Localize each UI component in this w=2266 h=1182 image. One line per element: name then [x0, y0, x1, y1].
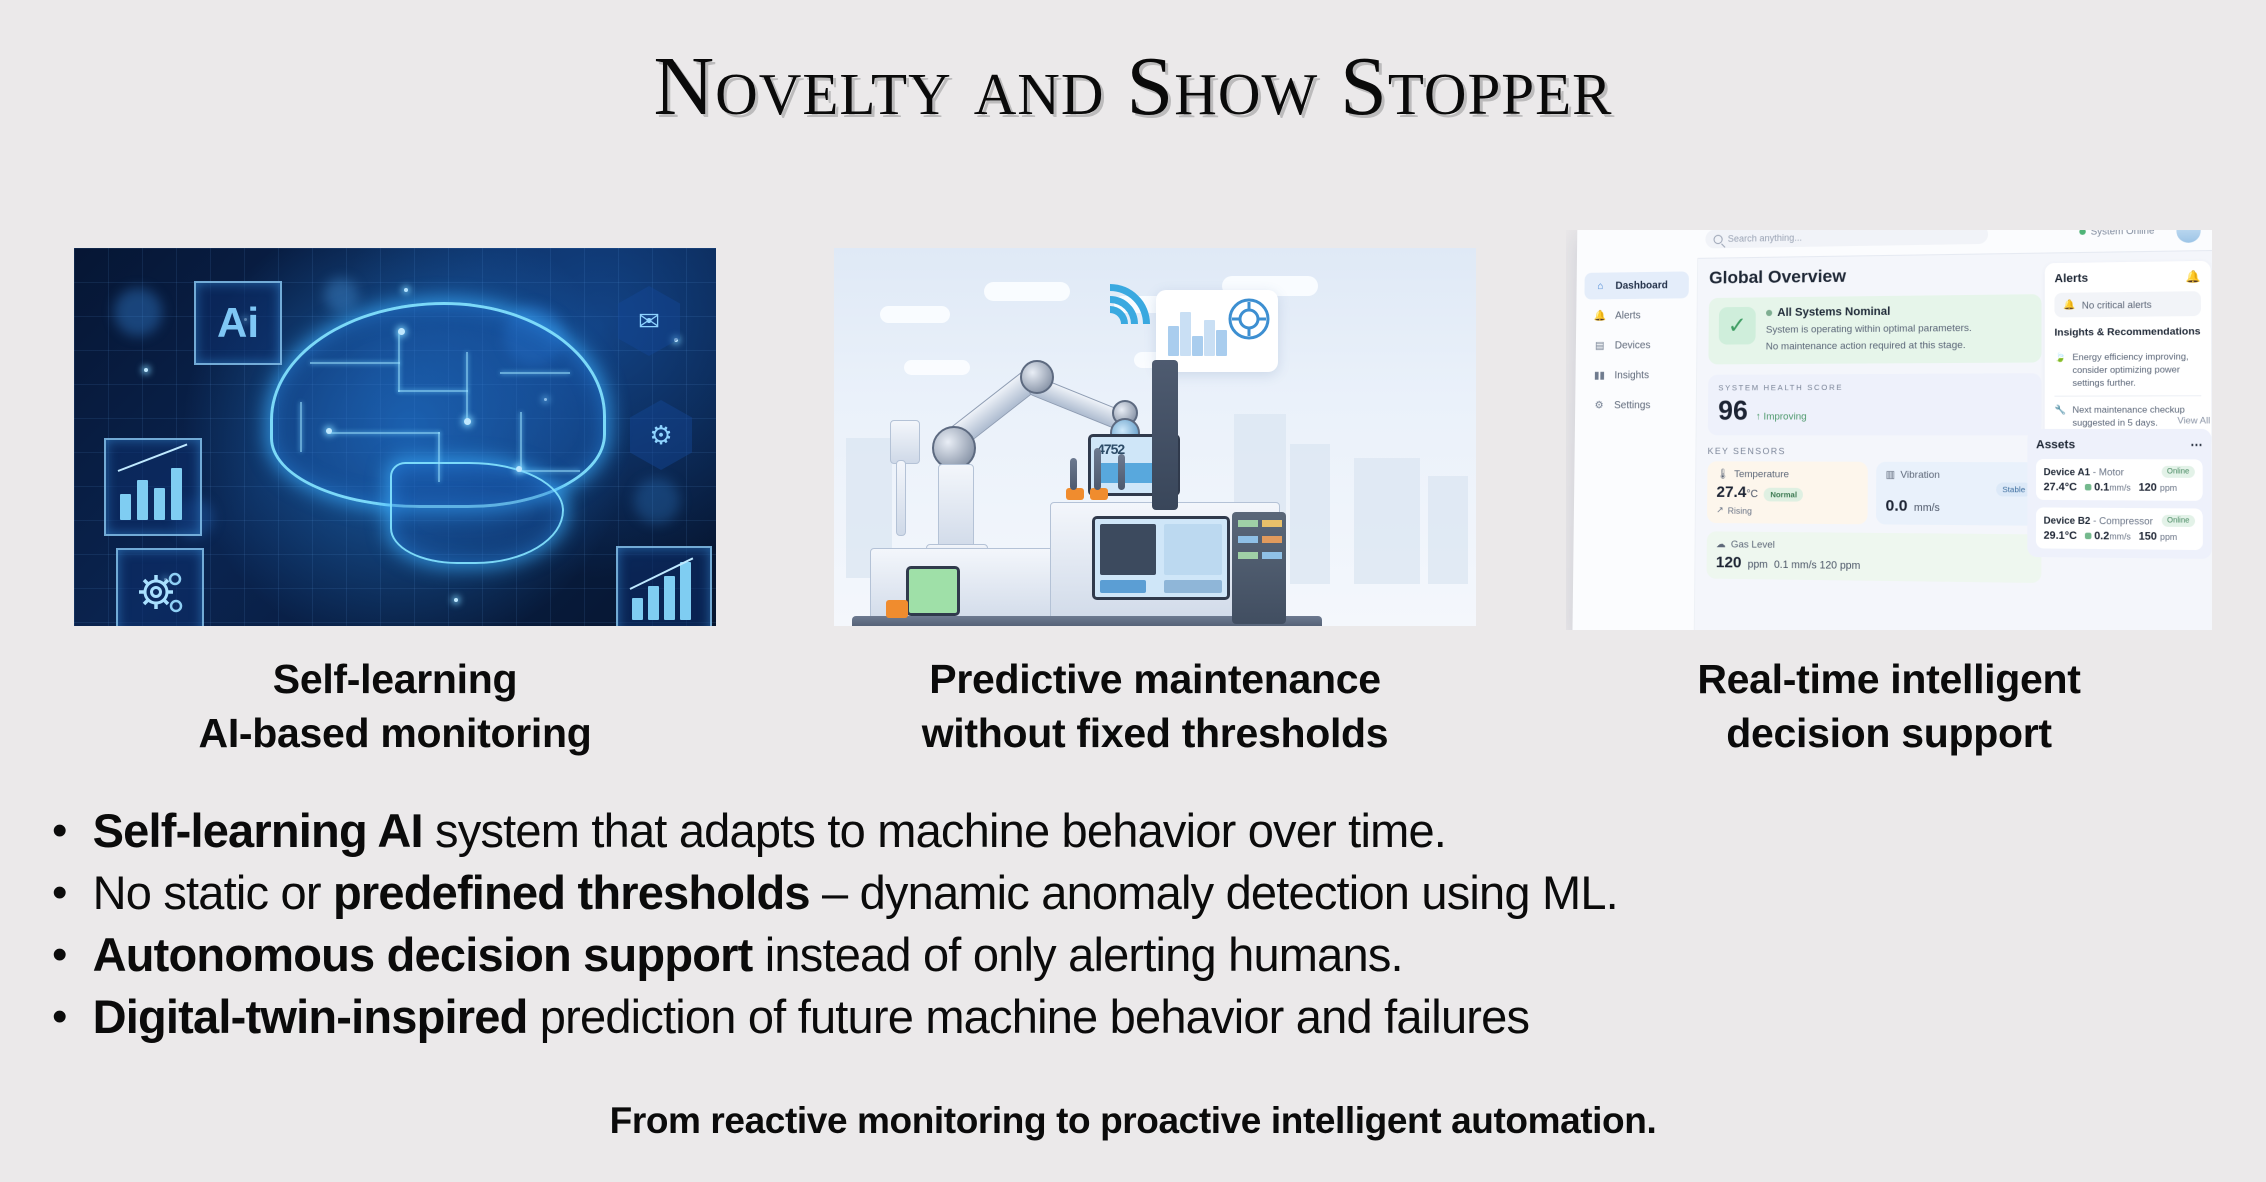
dashboard-right-panel: Alerts 🔔 🔔 No critical alerts Insights &… — [2035, 250, 2212, 630]
nominal-title: All Systems Nominal — [1777, 305, 1890, 319]
analytics-chart-icon — [616, 546, 712, 626]
bell-icon: 🔔 — [2063, 299, 2075, 311]
sensor-unit: ppm — [1748, 559, 1768, 571]
asset-status-badge: Online — [2161, 515, 2195, 527]
list-item: • No static or predefined thresholds – d… — [52, 862, 2232, 924]
bullet-marker: • — [52, 800, 67, 862]
caption-predictive-maintenance: Predictive maintenance without fixed thr… — [834, 652, 1476, 760]
spark — [404, 288, 408, 292]
search-input[interactable]: Search anything... — [1705, 230, 1988, 248]
asset-temp: 27.4°C — [2044, 482, 2077, 494]
cnc-panel — [1092, 516, 1230, 600]
alerts-empty-label: No critical alerts — [2082, 299, 2152, 310]
closing-line: From reactive monitoring to proactive in… — [0, 1100, 2266, 1142]
status-card-nominal: ✓ All Systems Nominal System is operatin… — [1708, 294, 2041, 364]
sidebar-item-label: Settings — [1614, 399, 1650, 410]
bullet-rest: – dynamic anomaly detection using ML. — [810, 866, 1618, 919]
sidebar-item-dashboard[interactable]: ⌂ Dashboard — [1584, 271, 1689, 299]
check-icon: ✓ — [1719, 307, 1756, 345]
bullet-rest: prediction of future machine behavior an… — [528, 990, 1530, 1043]
nominal-line-2: No maintenance action required at this s… — [1766, 338, 1972, 353]
sidebar-item-insights[interactable]: ▮▮ Insights — [1583, 361, 1688, 388]
alerts-title: Alerts — [2054, 272, 2088, 285]
emergency-button — [886, 600, 908, 618]
caption-line-2: decision support — [1566, 706, 2212, 760]
sensor-card-gas: ☁ Gas Level 120ppm 0.1 mm/s 120 ppm — [1707, 531, 2042, 583]
caption-decision-support: Real-time intelligent decision support — [1566, 652, 2212, 760]
list-item: • Self-learning AI system that adapts to… — [52, 800, 2232, 862]
sensor-unit: mm/s — [1914, 502, 1940, 514]
insight-text: Energy efficiency improving, consider op… — [2072, 350, 2201, 390]
sensor-sub: 0.1 mm/s 120 ppm — [1774, 559, 1860, 572]
realtime-dashboard-screenshot: Search anything... System Online ⌂ Dashb… — [1566, 230, 2212, 630]
asset-kind: - Compressor — [2093, 515, 2153, 526]
alerts-empty-row: 🔔 No critical alerts — [2054, 291, 2201, 317]
leaf-icon: 🍃 — [2054, 351, 2065, 390]
dashboard-sidebar: ⌂ Dashboard 🔔 Alerts ▤ Devices ▮▮ — [1572, 258, 1698, 630]
vibration-dot-icon — [2085, 484, 2092, 491]
bar-chart-icon — [104, 438, 202, 536]
robot-joint-elbow — [1020, 360, 1054, 394]
sensor-value: 27.4 — [1716, 483, 1746, 501]
sensor-name: Gas Level — [1731, 539, 1775, 551]
asset-row[interactable]: Device A1 - Motor Online 27.4°C 0.1mm/s … — [2036, 459, 2203, 501]
sensor-sub: Rising — [1728, 505, 1752, 516]
status-screen — [906, 566, 960, 616]
nominal-title-row: All Systems Nominal — [1766, 304, 1972, 319]
search-placeholder: Search anything... — [1728, 232, 1802, 244]
spark — [454, 598, 458, 602]
caption-line-2: without fixed thresholds — [834, 706, 1476, 760]
asset-vib: 0.2 — [2094, 531, 2109, 543]
home-icon: ⌂ — [1594, 280, 1606, 292]
sensor-value: 0.0 — [1885, 497, 1907, 515]
caption-line-1: Predictive maintenance — [834, 652, 1476, 706]
nominal-line-1: System is operating within optimal param… — [1766, 321, 1972, 337]
health-score-trend: ↑ Improving — [1756, 411, 1807, 423]
sidebar-item-label: Alerts — [1615, 310, 1641, 322]
bullet-marker: • — [52, 924, 67, 986]
gas-icon: ☁ — [1716, 539, 1726, 551]
bell-icon: 🔔 — [2186, 270, 2201, 284]
insights-title: Insights & Recommendations — [2054, 326, 2201, 339]
gear-icon: ⚙ — [1593, 399, 1605, 411]
health-score-label: SYSTEM HEALTH SCORE — [1718, 382, 2030, 393]
caption-self-learning: Self-learning AI-based monitoring — [74, 652, 716, 760]
sensor-name: Temperature — [1734, 469, 1789, 481]
brain-graphic — [270, 302, 670, 572]
insight-item: 🍃 Energy efficiency improving, consider … — [2054, 343, 2201, 396]
sensor-unit: °C — [1746, 489, 1758, 501]
sensor-card-temperature: 🌡 Temperature 27.4°C Normal ↗Rising — [1707, 461, 1868, 524]
asset-temp: 29.1°C — [2044, 530, 2077, 542]
wrench-icon: 🔧 — [2054, 403, 2065, 429]
bullet-rest: instead of only alerting humans. — [753, 928, 1403, 981]
asset-gas: 120 — [2138, 482, 2156, 494]
layers-icon: ▤ — [1594, 339, 1606, 351]
sensor-status-badge: Stable — [1996, 482, 2032, 496]
health-score-value: 96 — [1718, 394, 1748, 426]
search-icon — [1713, 235, 1722, 244]
asset-status-badge: Online — [2161, 466, 2195, 478]
caption-line-2: AI-based monitoring — [74, 706, 716, 760]
sensor-card-vibration: ▥ Vibration Stable 0.0mm/s — [1876, 462, 2041, 526]
thermometer-icon: 🌡 — [1717, 469, 1729, 481]
dashboard-window: Search anything... System Online ⌂ Dashb… — [1572, 230, 2212, 630]
more-options-icon[interactable]: ⋯ — [2190, 438, 2202, 452]
bullet-bold-lead: Digital-twin-inspired — [93, 990, 528, 1043]
dashboard-main: Global Overview ✓ All Systems Nominal Sy… — [1694, 252, 2055, 630]
bullet-bold-lead: Autonomous decision support — [93, 928, 753, 981]
caption-line-1: Real-time intelligent — [1566, 652, 2212, 706]
sidebar-item-label: Insights — [1614, 369, 1649, 381]
bullet-bold-mid: predefined thresholds — [333, 866, 810, 919]
asset-gas-unit: ppm — [2160, 483, 2177, 493]
bullet-rest: system that adapts to machine behavior o… — [423, 804, 1446, 857]
brain-cerebellum — [390, 462, 564, 564]
asset-vib: 0.1 — [2094, 482, 2109, 494]
spark — [144, 368, 148, 372]
ai-brain-illustration: Ai — [74, 248, 716, 626]
asset-name: Device B2 — [2044, 514, 2091, 525]
server-rack — [1232, 512, 1286, 624]
bullet-marker: • — [52, 862, 67, 924]
bullet-marker: • — [52, 986, 67, 1048]
status-dot-icon — [2080, 230, 2087, 235]
bullet-list: • Self-learning AI system that adapts to… — [52, 800, 2232, 1048]
list-item: • Digital-twin-inspired prediction of fu… — [52, 986, 2232, 1048]
assets-title: Assets — [2036, 438, 2075, 451]
key-sensors-label: KEY SENSORS — [1708, 446, 2042, 457]
slide-root: Novelty and Show Stopper — [0, 0, 2266, 1182]
health-score-card: SYSTEM HEALTH SCORE 96 ↑ Improving — [1708, 373, 2042, 435]
sensor-value: 120 — [1716, 553, 1742, 571]
asset-row[interactable]: Device B2 - Compressor Online 29.1°C 0.2… — [2036, 507, 2203, 550]
asset-vib-unit: mm/s — [2109, 483, 2130, 493]
trend-up-icon: ↗ — [1716, 504, 1723, 516]
bokeh-dot — [114, 288, 162, 336]
page-title: Novelty and Show Stopper — [0, 38, 2266, 135]
view-all-link[interactable]: View All — [2177, 415, 2210, 426]
nominal-dot-icon — [1766, 310, 1772, 316]
cog-badge-icon — [1228, 298, 1270, 340]
system-status-label: System Online — [2091, 230, 2155, 237]
assets-card: Assets ⋯ Device A1 - Motor Online — [2027, 429, 2212, 559]
sidebar-item-devices[interactable]: ▤ Devices — [1584, 331, 1689, 359]
ai-chip-icon: Ai — [194, 281, 282, 365]
bullet-plain-lead: No static or — [93, 866, 333, 919]
list-item: • Autonomous decision support instead of… — [52, 924, 2232, 986]
sidebar-item-label: Devices — [1615, 339, 1651, 351]
image-columns: Ai — [0, 248, 2266, 778]
sidebar-item-settings[interactable]: ⚙ Settings — [1583, 392, 1688, 419]
asset-gas-unit: ppm — [2160, 532, 2177, 542]
sensor-status-badge: Normal — [1764, 488, 1803, 502]
asset-gas: 150 — [2139, 531, 2157, 543]
predictive-maintenance-factory-illustration: 4752 — [834, 248, 1476, 626]
sensor-name: Vibration — [1900, 469, 1940, 481]
bar-chart-icon: ▮▮ — [1593, 369, 1605, 381]
system-status: System Online — [2080, 230, 2155, 237]
caption-line-1: Self-learning — [74, 652, 716, 706]
vibration-dot-icon — [2085, 533, 2092, 540]
asset-kind: - Motor — [2093, 466, 2124, 477]
bullet-bold-lead: Self-learning AI — [93, 804, 423, 857]
asset-vib-unit: mm/s — [2109, 532, 2130, 542]
sidebar-item-label: Dashboard — [1615, 279, 1668, 291]
asset-name: Device A1 — [2044, 466, 2090, 477]
ai-chip-label: Ai — [217, 299, 259, 347]
avatar[interactable] — [2176, 230, 2200, 243]
sidebar-item-alerts[interactable]: 🔔 Alerts — [1584, 301, 1689, 329]
gear-icon — [116, 548, 204, 626]
bell-icon: 🔔 — [1594, 310, 1606, 322]
dashboard-page-title: Global Overview — [1709, 263, 2041, 288]
vibration-icon: ▥ — [1886, 469, 1896, 481]
